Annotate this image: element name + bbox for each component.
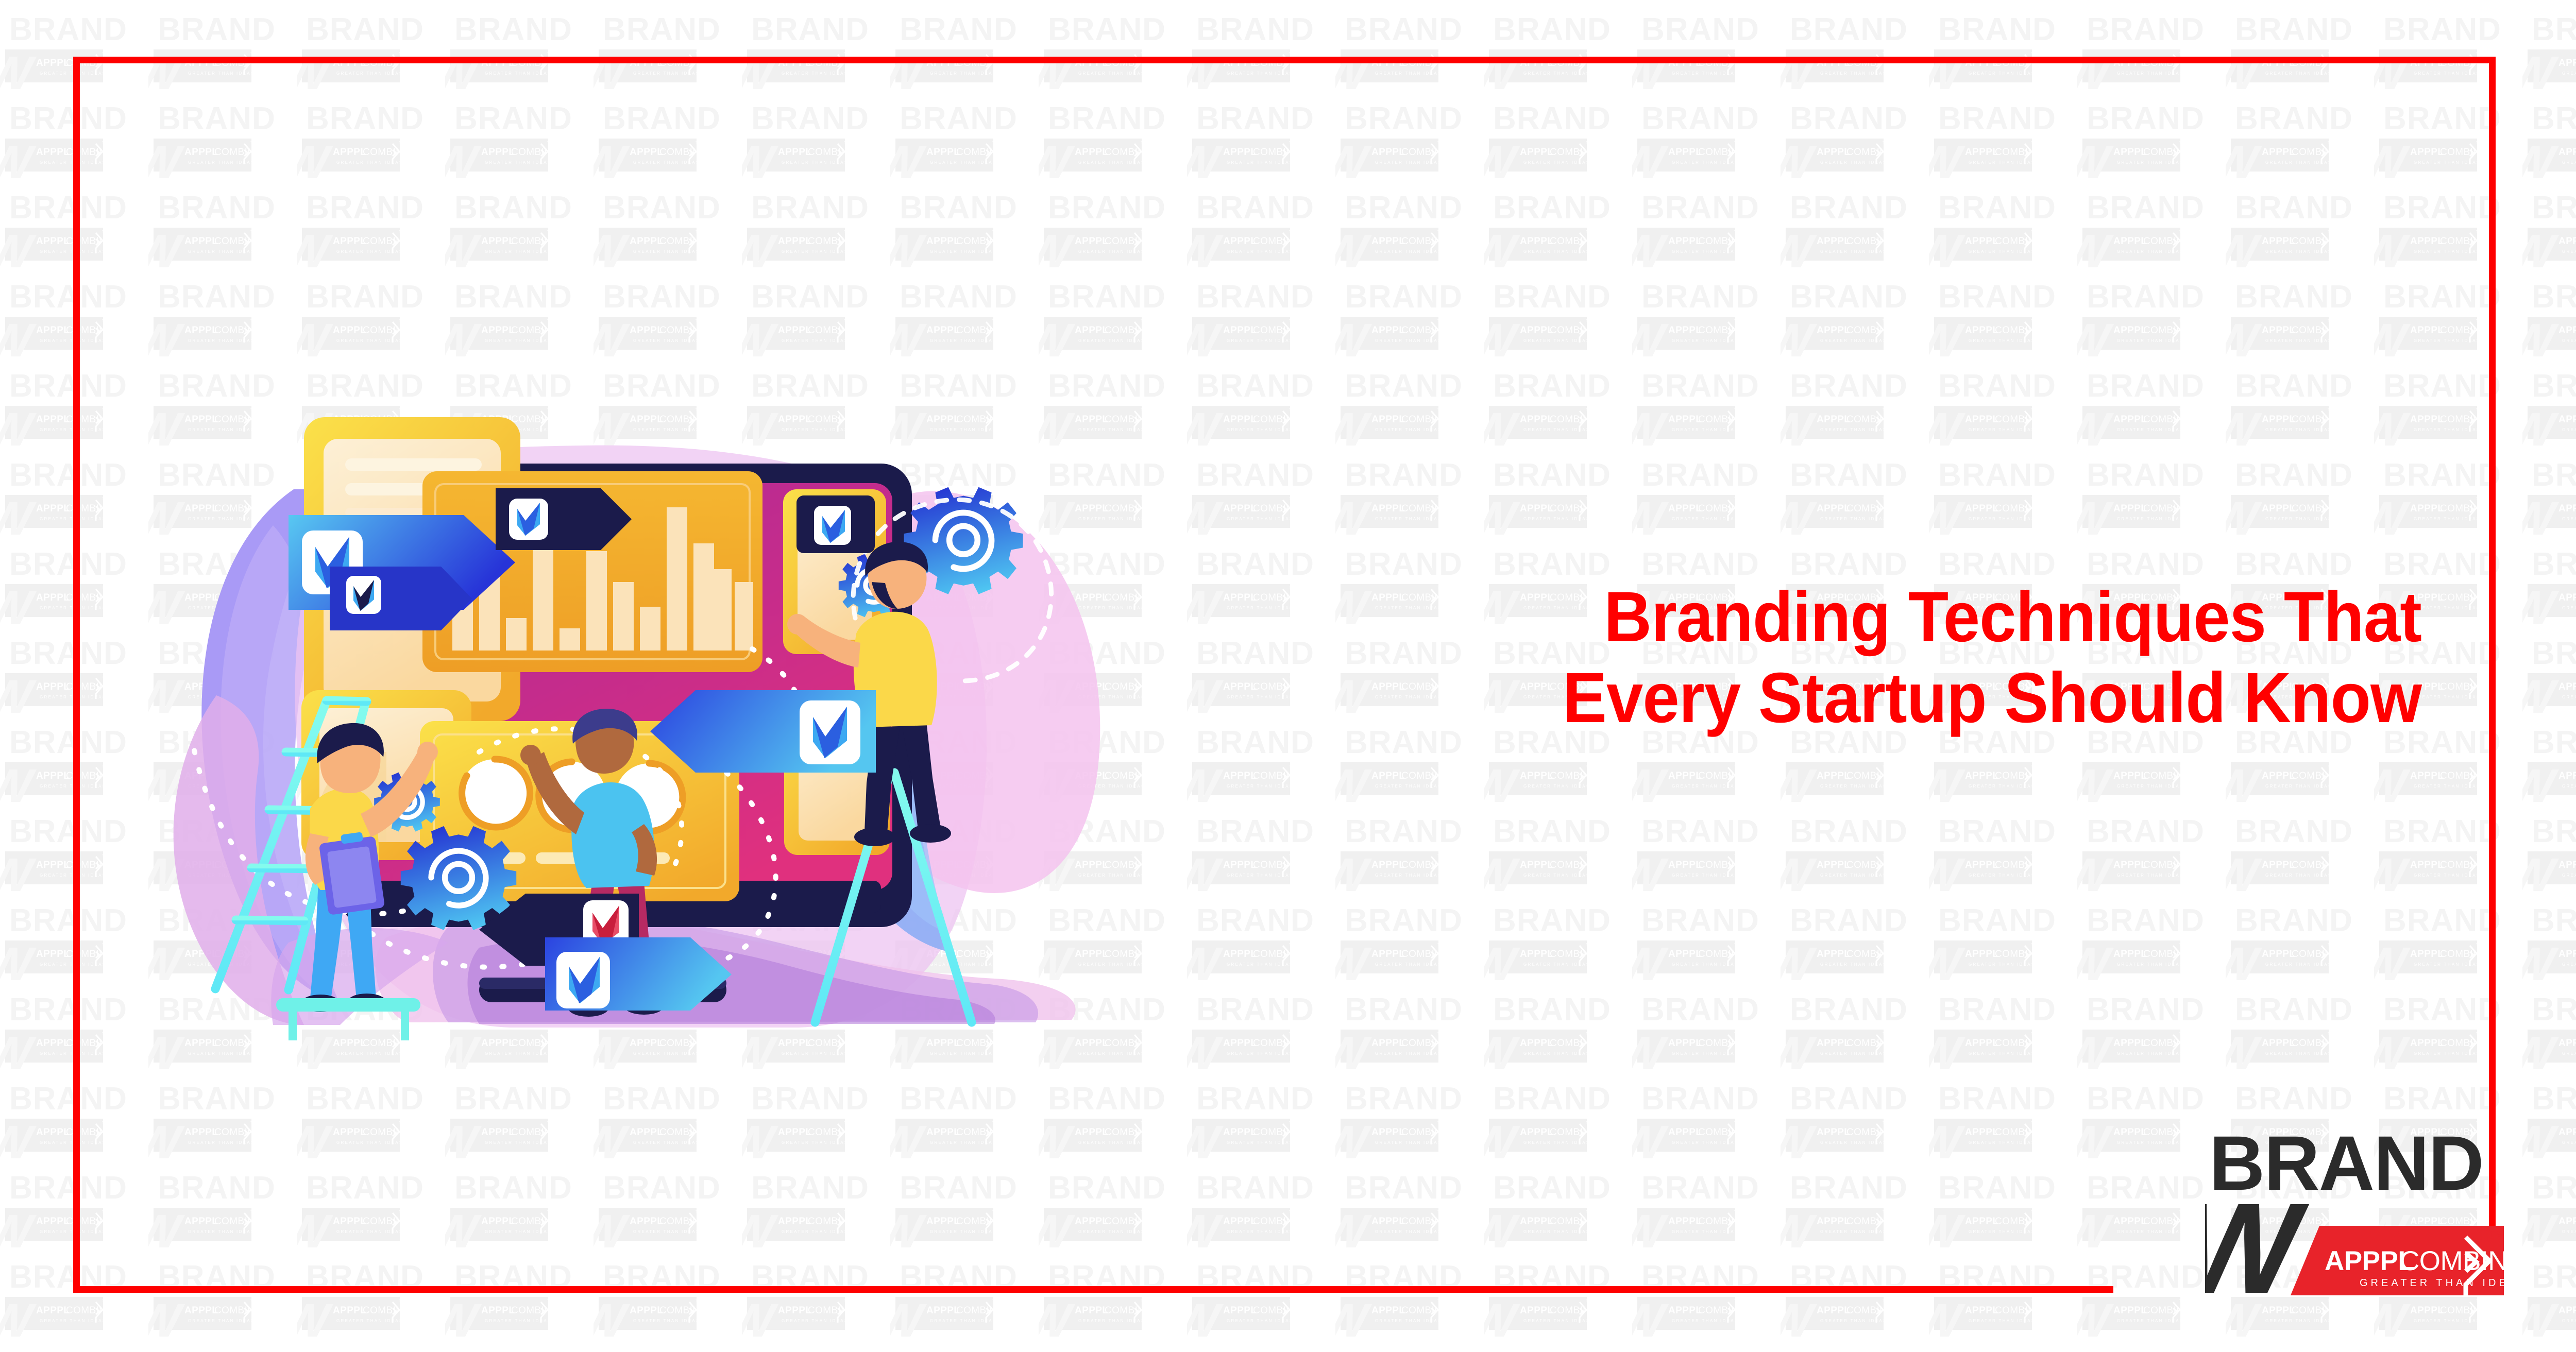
frame-border-right — [2489, 57, 2496, 1293]
check-tag-blue-midright — [650, 690, 876, 773]
logo-trademark: TM — [2489, 1229, 2503, 1239]
banner-canvas: BRAND W APPPL COMBINE GREATER THAN IDEAS… — [0, 0, 2576, 1352]
headline-line-2: Every Startup Should Know — [1080, 658, 2421, 739]
frame-border-top — [73, 57, 2496, 63]
brand-logo[interactable]: BRAND W APPPL COMBINE GREATER THAN IDEAS… — [2205, 1123, 2504, 1298]
check-tag-right-card — [796, 495, 875, 553]
frame-border-bottom — [73, 1286, 2113, 1293]
headline-line-1: Branding Techniques That — [1080, 577, 2421, 658]
page-title: Branding Techniques That Every Startup S… — [1080, 577, 2421, 739]
frame-border-left — [73, 57, 80, 1293]
branding-workflow-illustration — [118, 361, 1139, 1040]
logo-badge-tagline: GREATER THAN IDEAS — [2360, 1277, 2504, 1289]
